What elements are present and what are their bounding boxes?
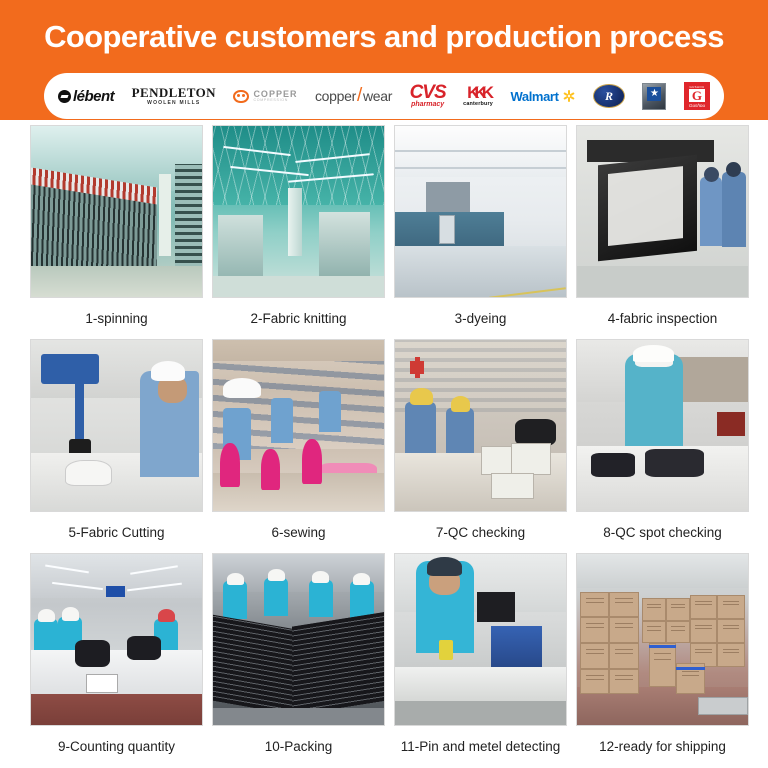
process-cell-5[interactable]: 5-Fabric Cutting	[30, 339, 203, 553]
process-caption-3: 3-dyeing	[394, 298, 567, 339]
canterbury-mark-icon: KKK	[463, 84, 493, 101]
process-image-4-fabric-inspection	[576, 125, 749, 298]
process-caption-8: 8-QC spot checking	[576, 512, 749, 553]
process-cell-6[interactable]: 6-sewing	[212, 339, 385, 553]
logo-pendleton[interactable]: PENDLETON WOOLEN MILLS	[132, 79, 216, 113]
process-image-10-packing	[212, 553, 385, 726]
process-caption-11: 11-Pin and metel detecting	[394, 726, 567, 767]
g-badge-bottom: Gushou	[689, 103, 705, 108]
process-image-7-qc-checking	[394, 339, 567, 512]
walmart-spark-icon	[562, 89, 576, 103]
process-image-9-counting-quantity	[30, 553, 203, 726]
process-caption-6: 6-sewing	[212, 512, 385, 553]
pendleton-tagline: WOOLEN MILLS	[132, 101, 216, 106]
pendleton-name: PENDLETON	[132, 86, 216, 99]
logo-walmart[interactable]: Walmart	[511, 79, 576, 113]
process-cell-9[interactable]: 9-Counting quantity	[30, 553, 203, 767]
process-image-2-fabric-knitting	[212, 125, 385, 298]
process-cell-11[interactable]: 11-Pin and metel detecting	[394, 553, 567, 767]
process-image-1-spinning	[30, 125, 203, 298]
logo-r-badge[interactable]: R	[593, 79, 625, 113]
page-title: Cooperative customers and production pro…	[0, 18, 768, 56]
r-badge-letter: R	[593, 84, 625, 108]
process-caption-9: 9-Counting quantity	[30, 726, 203, 767]
lebent-swirl-icon	[58, 90, 71, 103]
page-root: Cooperative customers and production pro…	[0, 0, 768, 768]
process-cell-3[interactable]: 3-dyeing	[394, 125, 567, 339]
process-cell-4[interactable]: 4-fabric inspection	[576, 125, 749, 339]
process-caption-5: 5-Fabric Cutting	[30, 512, 203, 553]
process-cell-1[interactable]: 1-spinning	[30, 125, 203, 339]
cvs-sub: pharmacy	[410, 102, 446, 108]
logo-copperwear[interactable]: copper / wear	[315, 79, 392, 113]
lebent-label: lébent	[73, 88, 114, 105]
logo-lebent[interactable]: lébent	[58, 79, 114, 113]
process-cell-12[interactable]: 12-ready for shipping	[576, 553, 749, 767]
canterbury-name: canterbury	[463, 102, 493, 107]
g-badge-letter: G	[689, 89, 705, 102]
process-cell-7[interactable]: 7-QC checking	[394, 339, 567, 553]
process-cell-2[interactable]: 2-Fabric knitting	[212, 125, 385, 339]
process-image-8-qc-spot-checking	[576, 339, 749, 512]
process-caption-7: 7-QC checking	[394, 512, 567, 553]
copperwear-divider: /	[357, 85, 362, 107]
process-image-3-dyeing	[394, 125, 567, 298]
process-grid: 1-spinning 2-Fabric knitting	[30, 125, 738, 767]
process-cell-10[interactable]: 10-Packing	[212, 553, 385, 767]
copperwear-part1: copper	[315, 88, 356, 104]
logo-star-badge[interactable]: ★	[642, 79, 666, 113]
copperwear-part2: wear	[363, 88, 392, 104]
process-caption-1: 1-spinning	[30, 298, 203, 339]
logo-copper[interactable]: COPPER COMPRESSION	[233, 79, 297, 113]
process-caption-10: 10-Packing	[212, 726, 385, 767]
process-image-11-pin-and-metal-detecting	[394, 553, 567, 726]
logo-cvs-pharmacy[interactable]: CVS pharmacy	[410, 79, 446, 113]
walmart-name: Walmart	[511, 89, 559, 104]
process-image-6-sewing	[212, 339, 385, 512]
process-caption-12: 12-ready for shipping	[576, 726, 749, 767]
customer-logo-bar: lébent PENDLETON WOOLEN MILLS COPPER COM…	[44, 73, 724, 119]
process-caption-2: 2-Fabric knitting	[212, 298, 385, 339]
logo-g-badge[interactable]: GUSHOU G Gushou	[684, 79, 710, 113]
process-caption-4: 4-fabric inspection	[576, 298, 749, 339]
logo-canterbury[interactable]: KKK canterbury	[463, 79, 493, 113]
process-image-12-ready-for-shipping	[576, 553, 749, 726]
process-cell-8[interactable]: 8-QC spot checking	[576, 339, 749, 553]
copper-ring-icon	[233, 90, 249, 103]
cvs-name: CVS	[410, 84, 446, 101]
star-icon: ★	[647, 87, 661, 101]
copper-sub: COMPRESSION	[253, 99, 297, 103]
process-image-5-fabric-cutting	[30, 339, 203, 512]
